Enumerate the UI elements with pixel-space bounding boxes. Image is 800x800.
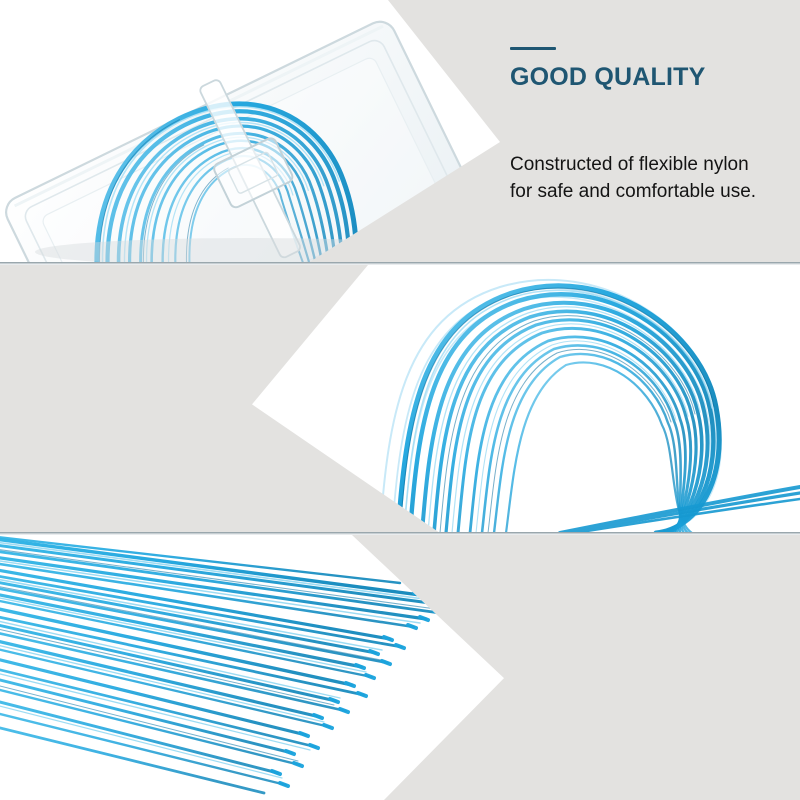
panel-easy-to-use: EASY TO USE Flexible tip inserts into sm… <box>0 535 800 800</box>
text-block-good-quality: GOOD QUALITY Constructed of flexible nyl… <box>510 47 705 92</box>
accent-rule <box>510 47 556 50</box>
body-good-quality: Constructed of flexible nylon for safe a… <box>510 152 800 206</box>
body-line: Constructed of flexible nylon <box>510 152 800 179</box>
body-line: for safe and comfortable use. <box>510 179 800 206</box>
panel-good-quality: GOOD QUALITY Constructed of flexible nyl… <box>0 0 800 263</box>
panel-difficulty-out: DIFFICULTY OUT Takes the difficulty out … <box>0 265 800 533</box>
product-infographic: GOOD QUALITY Constructed of flexible nyl… <box>0 0 800 800</box>
heading-good-quality: GOOD QUALITY <box>510 64 705 92</box>
